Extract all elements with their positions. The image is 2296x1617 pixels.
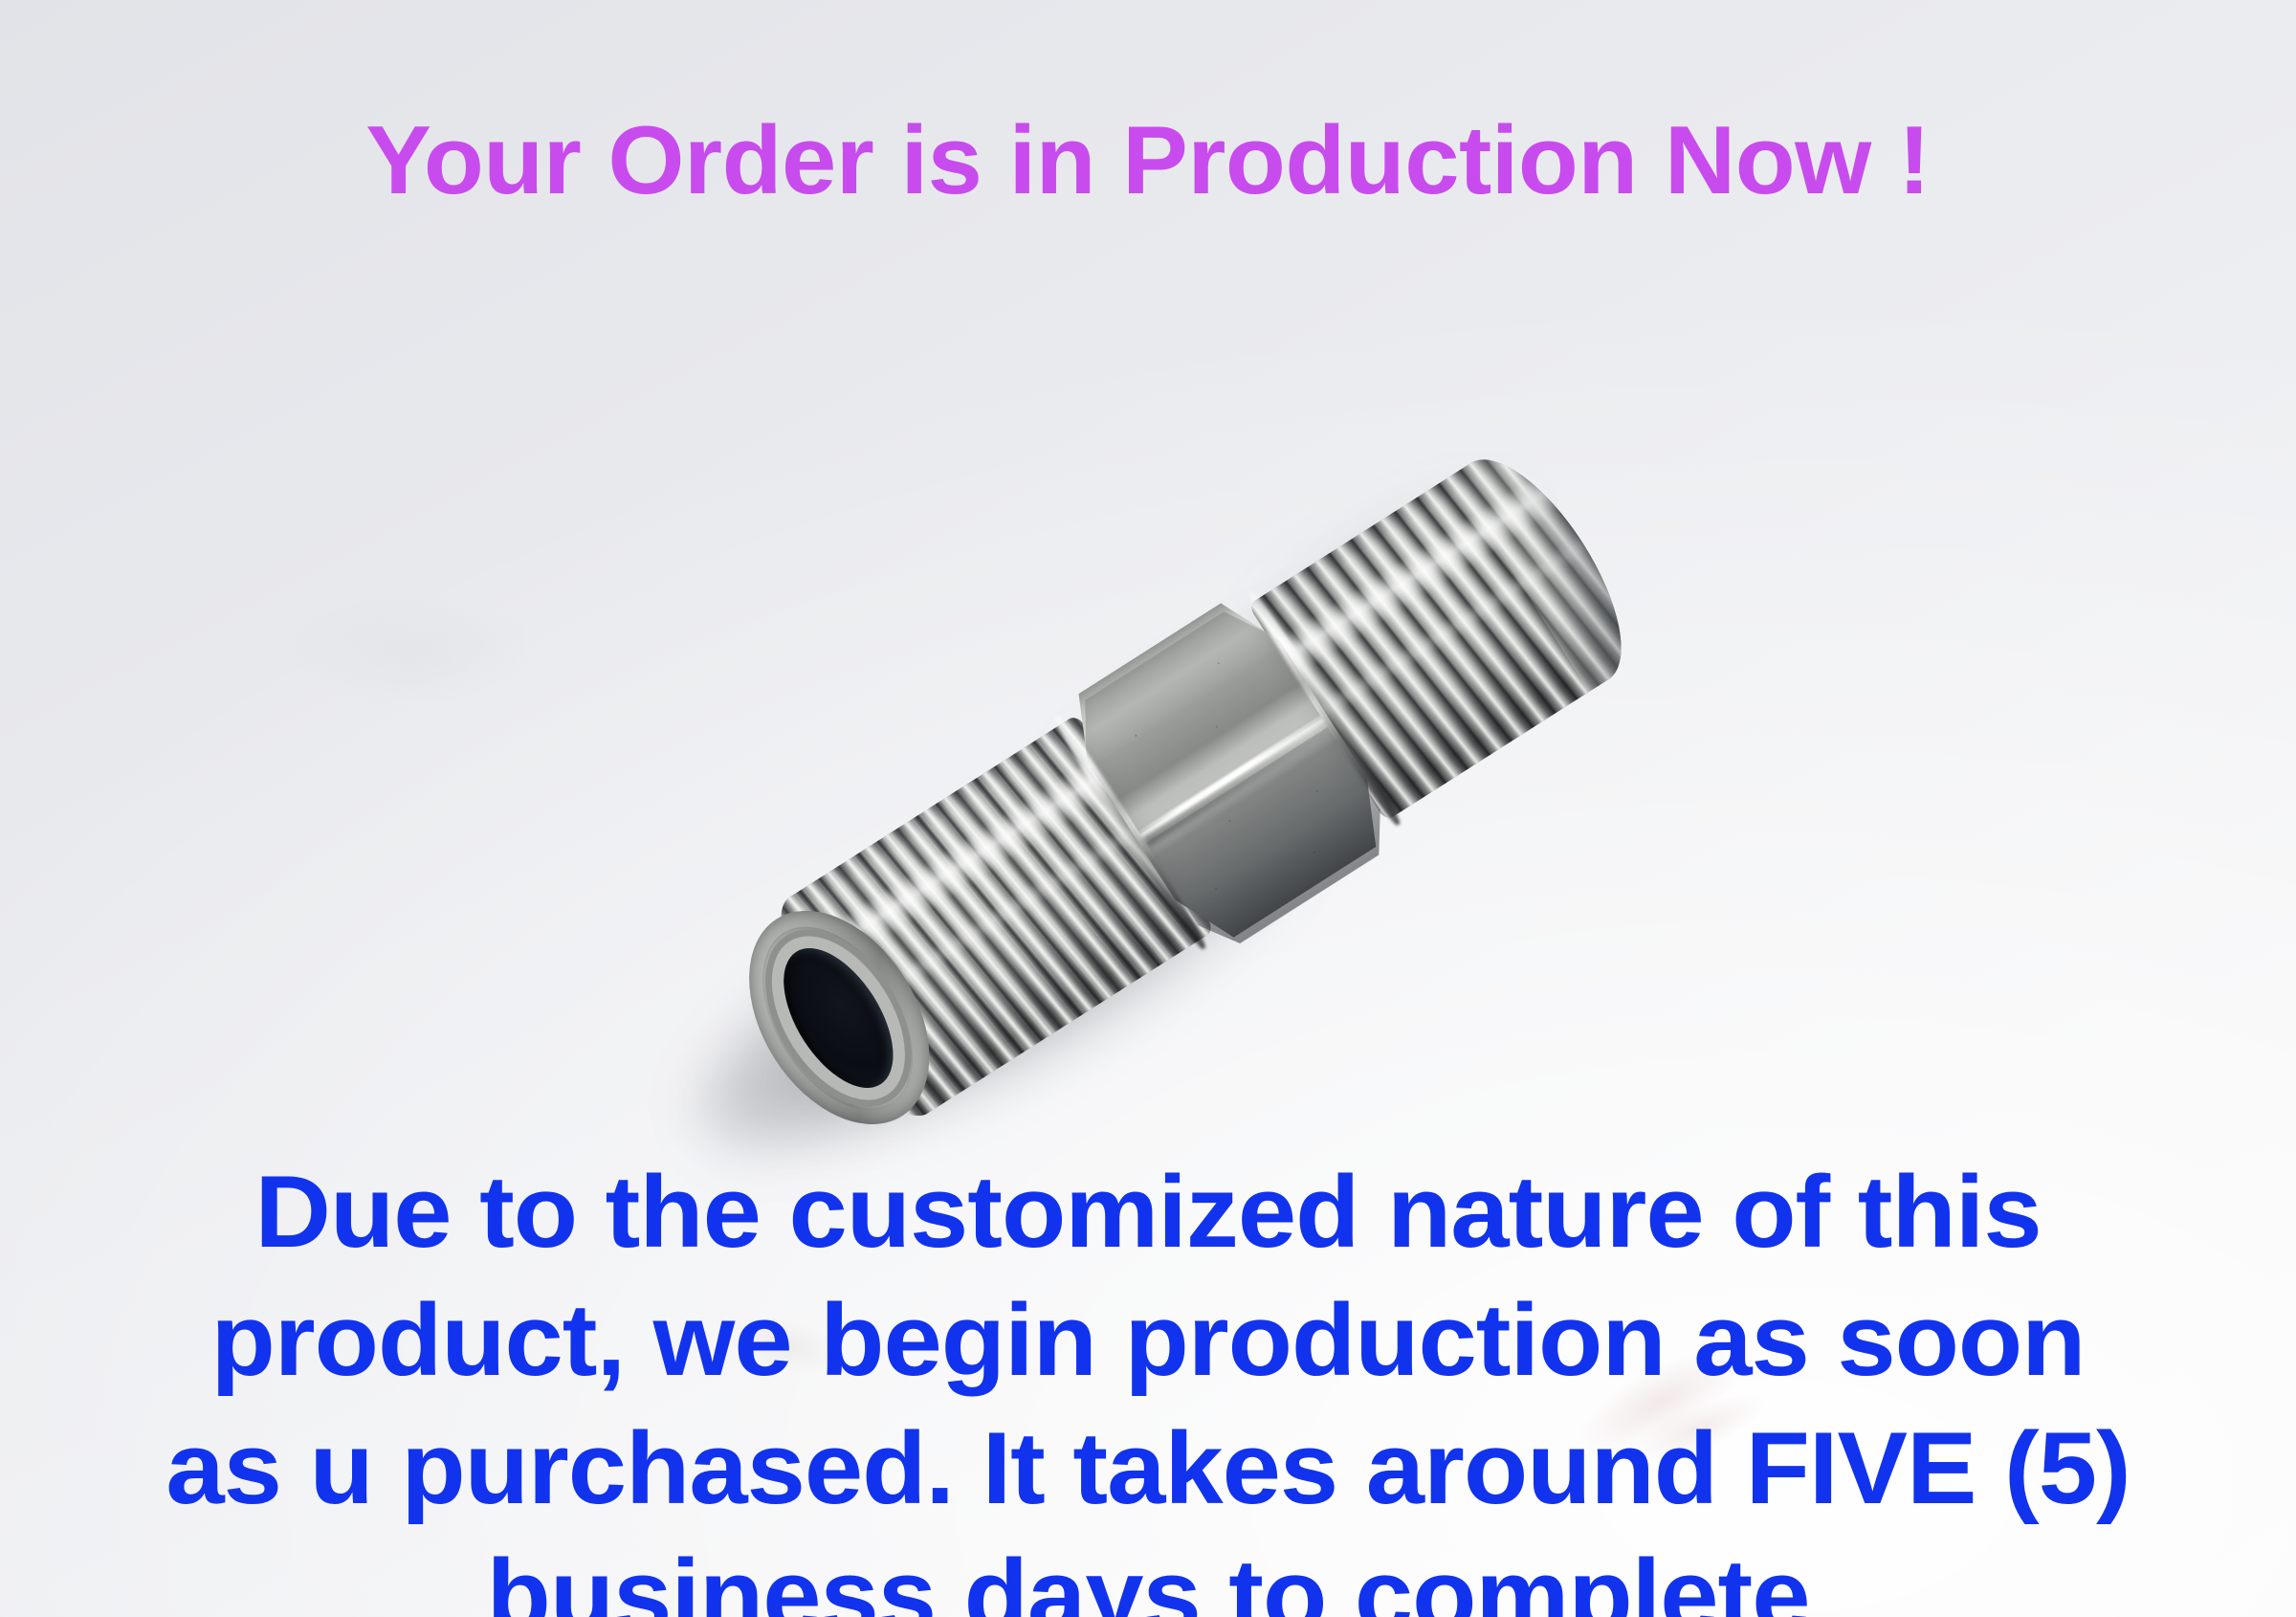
production-notice-graphic: Your Order is in Production Now ! xyxy=(0,0,2296,1617)
hex-pipe-nipple xyxy=(723,425,1667,1155)
message-line: product, we begin production as soon xyxy=(0,1276,2296,1405)
message-line: Due to the customized nature of this xyxy=(0,1148,2296,1276)
backdrop-blemish xyxy=(287,593,536,708)
headline-text: Your Order is in Production Now ! xyxy=(0,113,2296,210)
message-line: business days to complete xyxy=(0,1532,2296,1617)
message-line: as u purchased. It takes around FIVE (5) xyxy=(0,1405,2296,1533)
product-photo xyxy=(612,411,1760,1167)
pipe-end-dome xyxy=(1451,435,1652,692)
message-text: Due to the customized nature of this pro… xyxy=(0,1148,2296,1617)
